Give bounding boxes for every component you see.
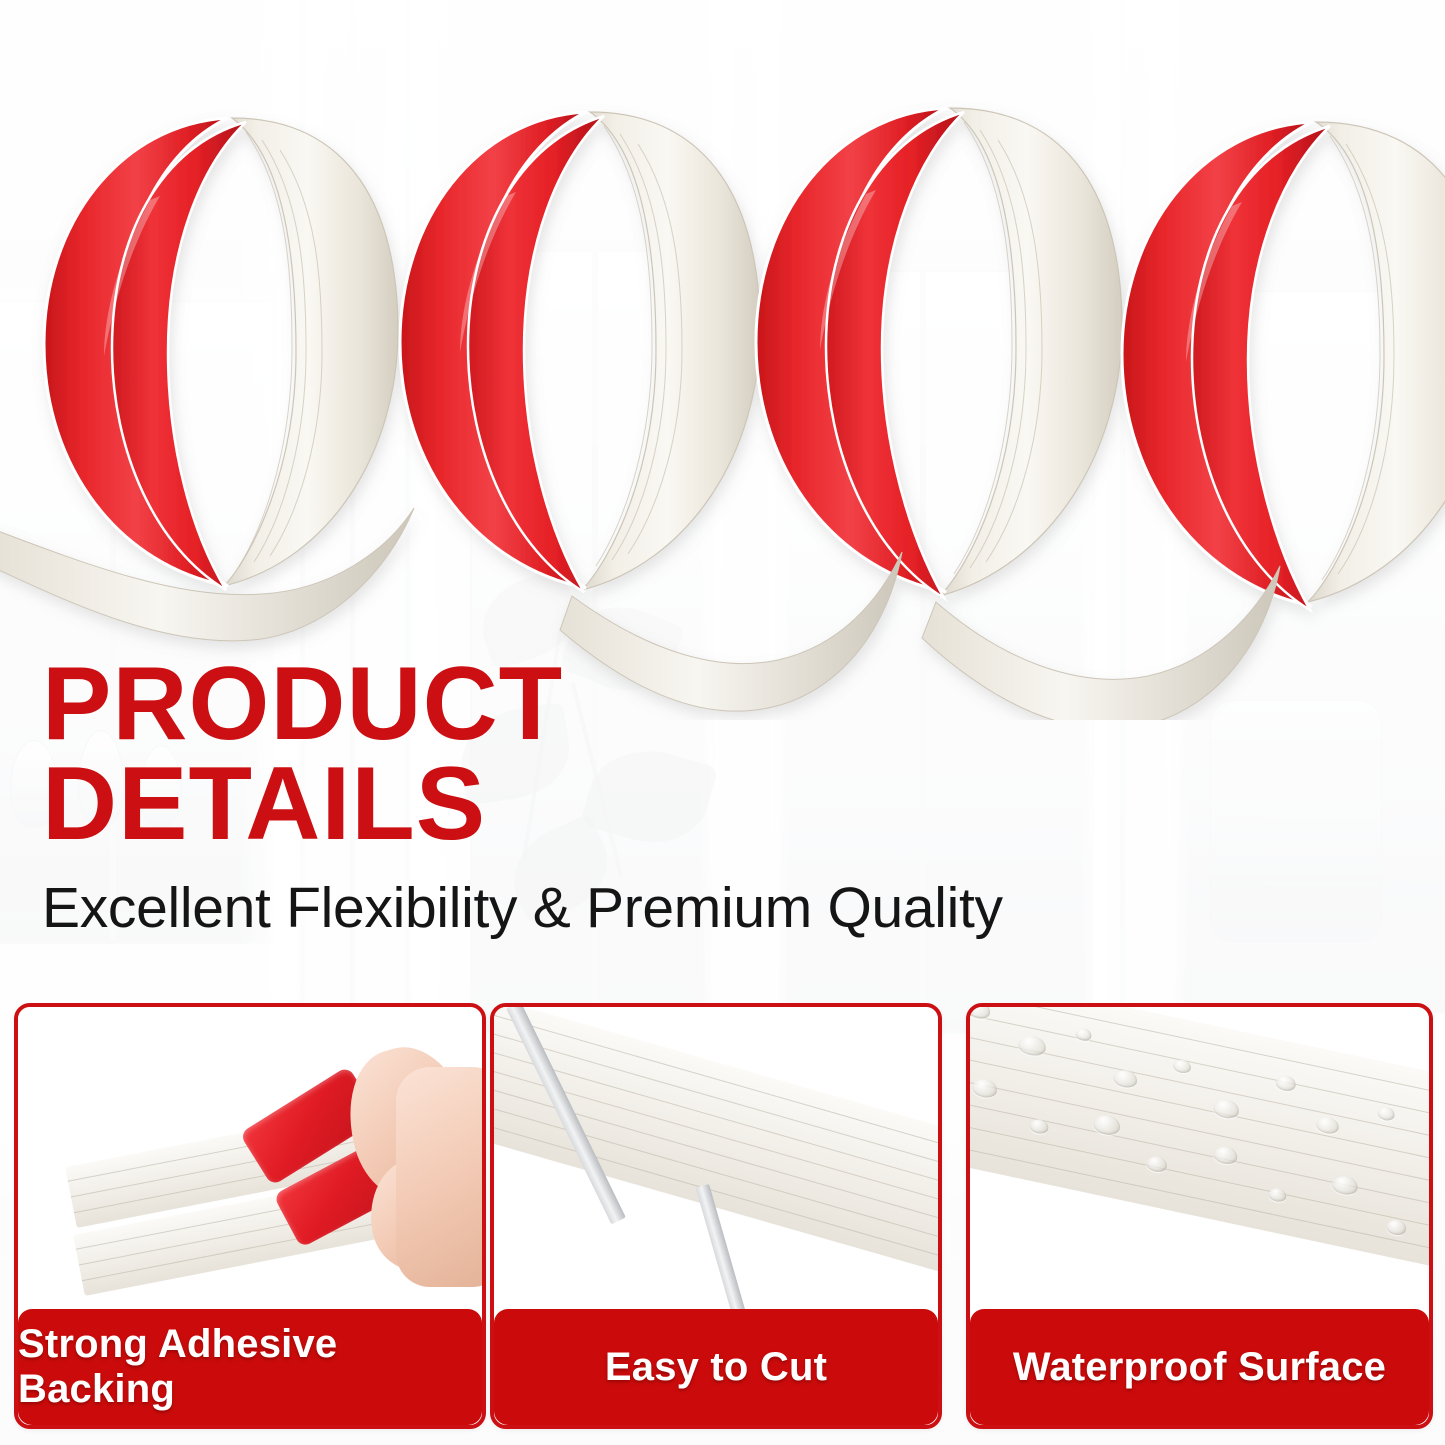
- feature-photo-easy-to-cut: [494, 1007, 938, 1309]
- feature-photo-strong-adhesive-backing: [18, 1007, 482, 1309]
- water-droplet: [1145, 1155, 1169, 1174]
- water-droplet: [1267, 1187, 1287, 1203]
- page-title: PRODUCT DETAILS: [42, 655, 1182, 855]
- edge-banding-coil-helix: [0, 0, 1445, 720]
- water-droplet: [1275, 1074, 1298, 1093]
- feature-card-row: Strong Adhesive Backing Easy to Cut: [0, 1003, 1445, 1423]
- water-droplet: [1212, 1145, 1239, 1167]
- water-droplet: [1016, 1034, 1047, 1058]
- water-droplet: [971, 1077, 999, 1100]
- hand-palm: [396, 1067, 482, 1287]
- feature-caption-bar-strong-adhesive-backing: Strong Adhesive Backing: [18, 1309, 482, 1425]
- feature-caption-label: Waterproof Surface: [1013, 1345, 1386, 1390]
- page-subtitle: Excellent Flexibility & Premium Quality: [42, 855, 1182, 940]
- water-droplet: [1092, 1113, 1122, 1137]
- feature-caption-label: Strong Adhesive Backing: [18, 1322, 482, 1412]
- coil-2-wood-face: [582, 112, 760, 590]
- feature-card-waterproof-surface[interactable]: Waterproof Surface: [966, 1003, 1433, 1429]
- headline-block: PRODUCT DETAILS Excellent Flexibility & …: [42, 655, 1182, 939]
- feature-card-easy-to-cut[interactable]: Easy to Cut: [490, 1003, 942, 1429]
- feature-caption-label: Easy to Cut: [605, 1345, 827, 1390]
- water-droplet: [1377, 1106, 1396, 1122]
- coil-1-wood-face: [224, 118, 398, 586]
- product-detail-image: PRODUCT DETAILS Excellent Flexibility & …: [0, 0, 1445, 1445]
- coil-3-wood-face: [940, 108, 1122, 596]
- banding-strip-wet: [970, 1007, 1429, 1281]
- water-droplet: [1330, 1174, 1359, 1197]
- water-droplet: [1385, 1218, 1408, 1237]
- water-droplet: [1315, 1115, 1341, 1135]
- feature-card-strong-adhesive-backing[interactable]: Strong Adhesive Backing: [14, 1003, 486, 1429]
- feature-caption-bar-waterproof-surface: Waterproof Surface: [970, 1309, 1429, 1425]
- coil-4-wood-face: [1308, 122, 1445, 602]
- feature-caption-bar-easy-to-cut: Easy to Cut: [494, 1309, 938, 1425]
- feature-photo-waterproof-surface: [970, 1007, 1429, 1309]
